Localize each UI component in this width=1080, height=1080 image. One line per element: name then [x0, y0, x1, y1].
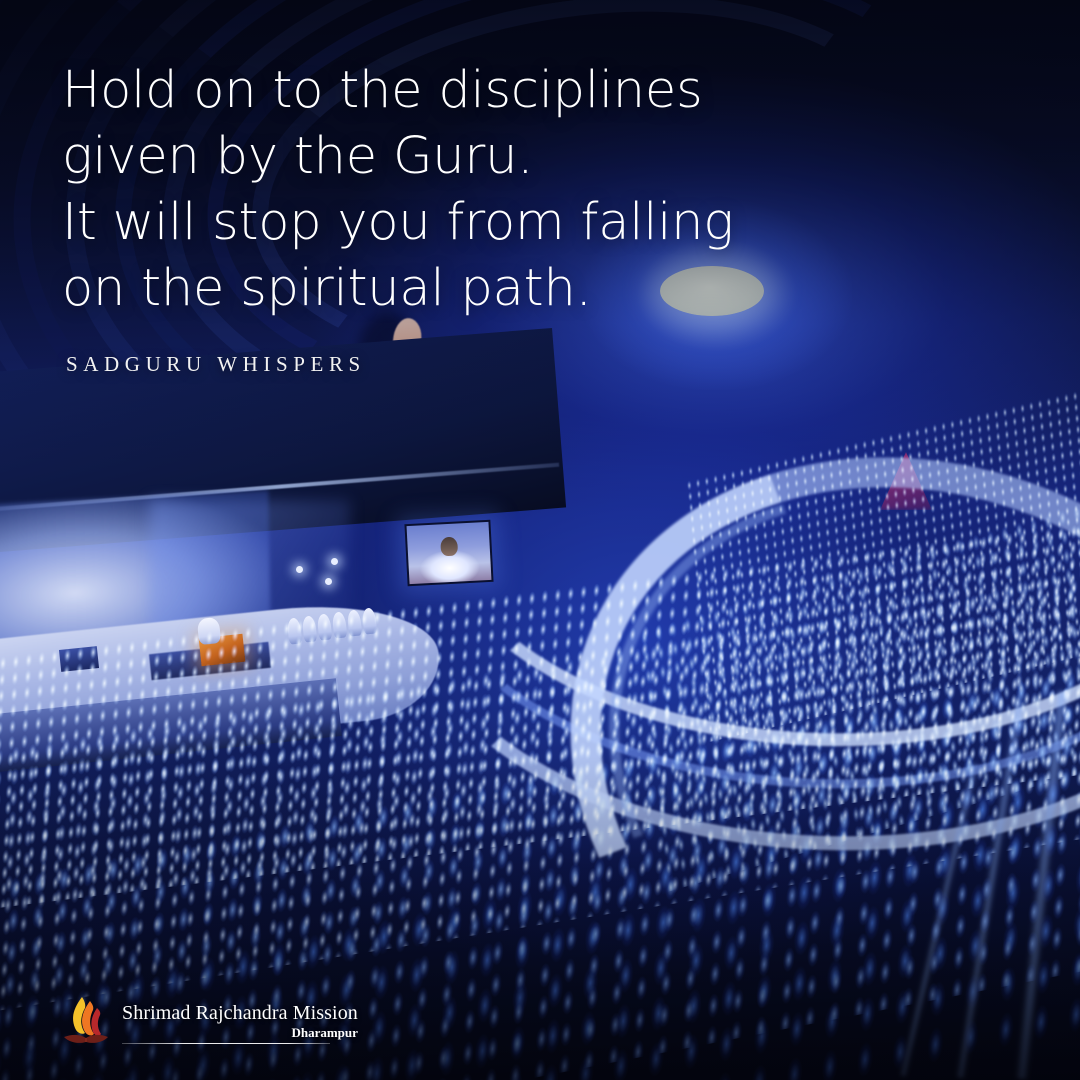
logo-title: Shrimad Rajchandra Mission [122, 1002, 358, 1025]
quote-text: Hold on to the disciplines given by the … [62, 58, 802, 322]
flame-emblem-icon [62, 993, 110, 1047]
quote-card: Hold on to the disciplines given by the … [0, 0, 1080, 1080]
logo-divider [122, 1043, 330, 1044]
brand-logo: Shrimad Rajchandra Mission Dharampur [62, 993, 358, 1047]
logo-text-block: Shrimad Rajchandra Mission Dharampur [122, 1002, 358, 1047]
attribution-label: SADGURU WHISPERS [66, 352, 366, 377]
logo-subtitle: Dharampur [122, 1025, 358, 1040]
